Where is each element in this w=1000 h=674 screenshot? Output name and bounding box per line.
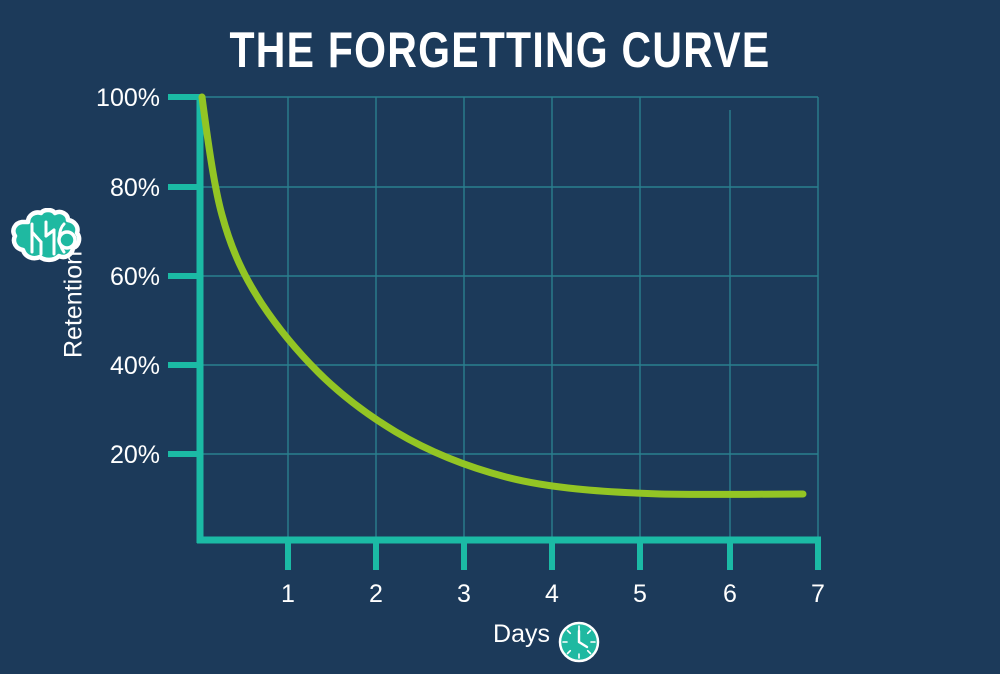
x-tick-label-3: 3 <box>434 580 494 609</box>
x-axis-ticks <box>288 540 818 570</box>
y-tick-label-80: 80% <box>30 174 160 203</box>
x-tick-label-5: 5 <box>610 580 670 609</box>
x-tick-label-2: 2 <box>346 580 406 609</box>
y-tick-label-20: 20% <box>30 441 160 470</box>
x-axis-title: Days <box>440 620 550 649</box>
x-tick-label-1: 1 <box>258 580 318 609</box>
x-tick-label-4: 4 <box>522 580 582 609</box>
grid-vertical <box>288 97 818 540</box>
y-tick-label-100: 100% <box>30 84 160 113</box>
retention-curve <box>202 97 803 494</box>
forgetting-curve-chart: THE FORGETTING CURVE <box>0 0 1000 674</box>
brain-icon-glyph <box>8 208 84 268</box>
clock-icon-glyph <box>557 620 601 664</box>
x-tick-label-7: 7 <box>788 580 848 609</box>
y-tick-label-40: 40% <box>30 352 160 381</box>
x-tick-label-6: 6 <box>700 580 760 609</box>
grid-horizontal <box>200 97 818 540</box>
clock-icon <box>557 620 601 664</box>
brain-icon <box>8 208 84 268</box>
